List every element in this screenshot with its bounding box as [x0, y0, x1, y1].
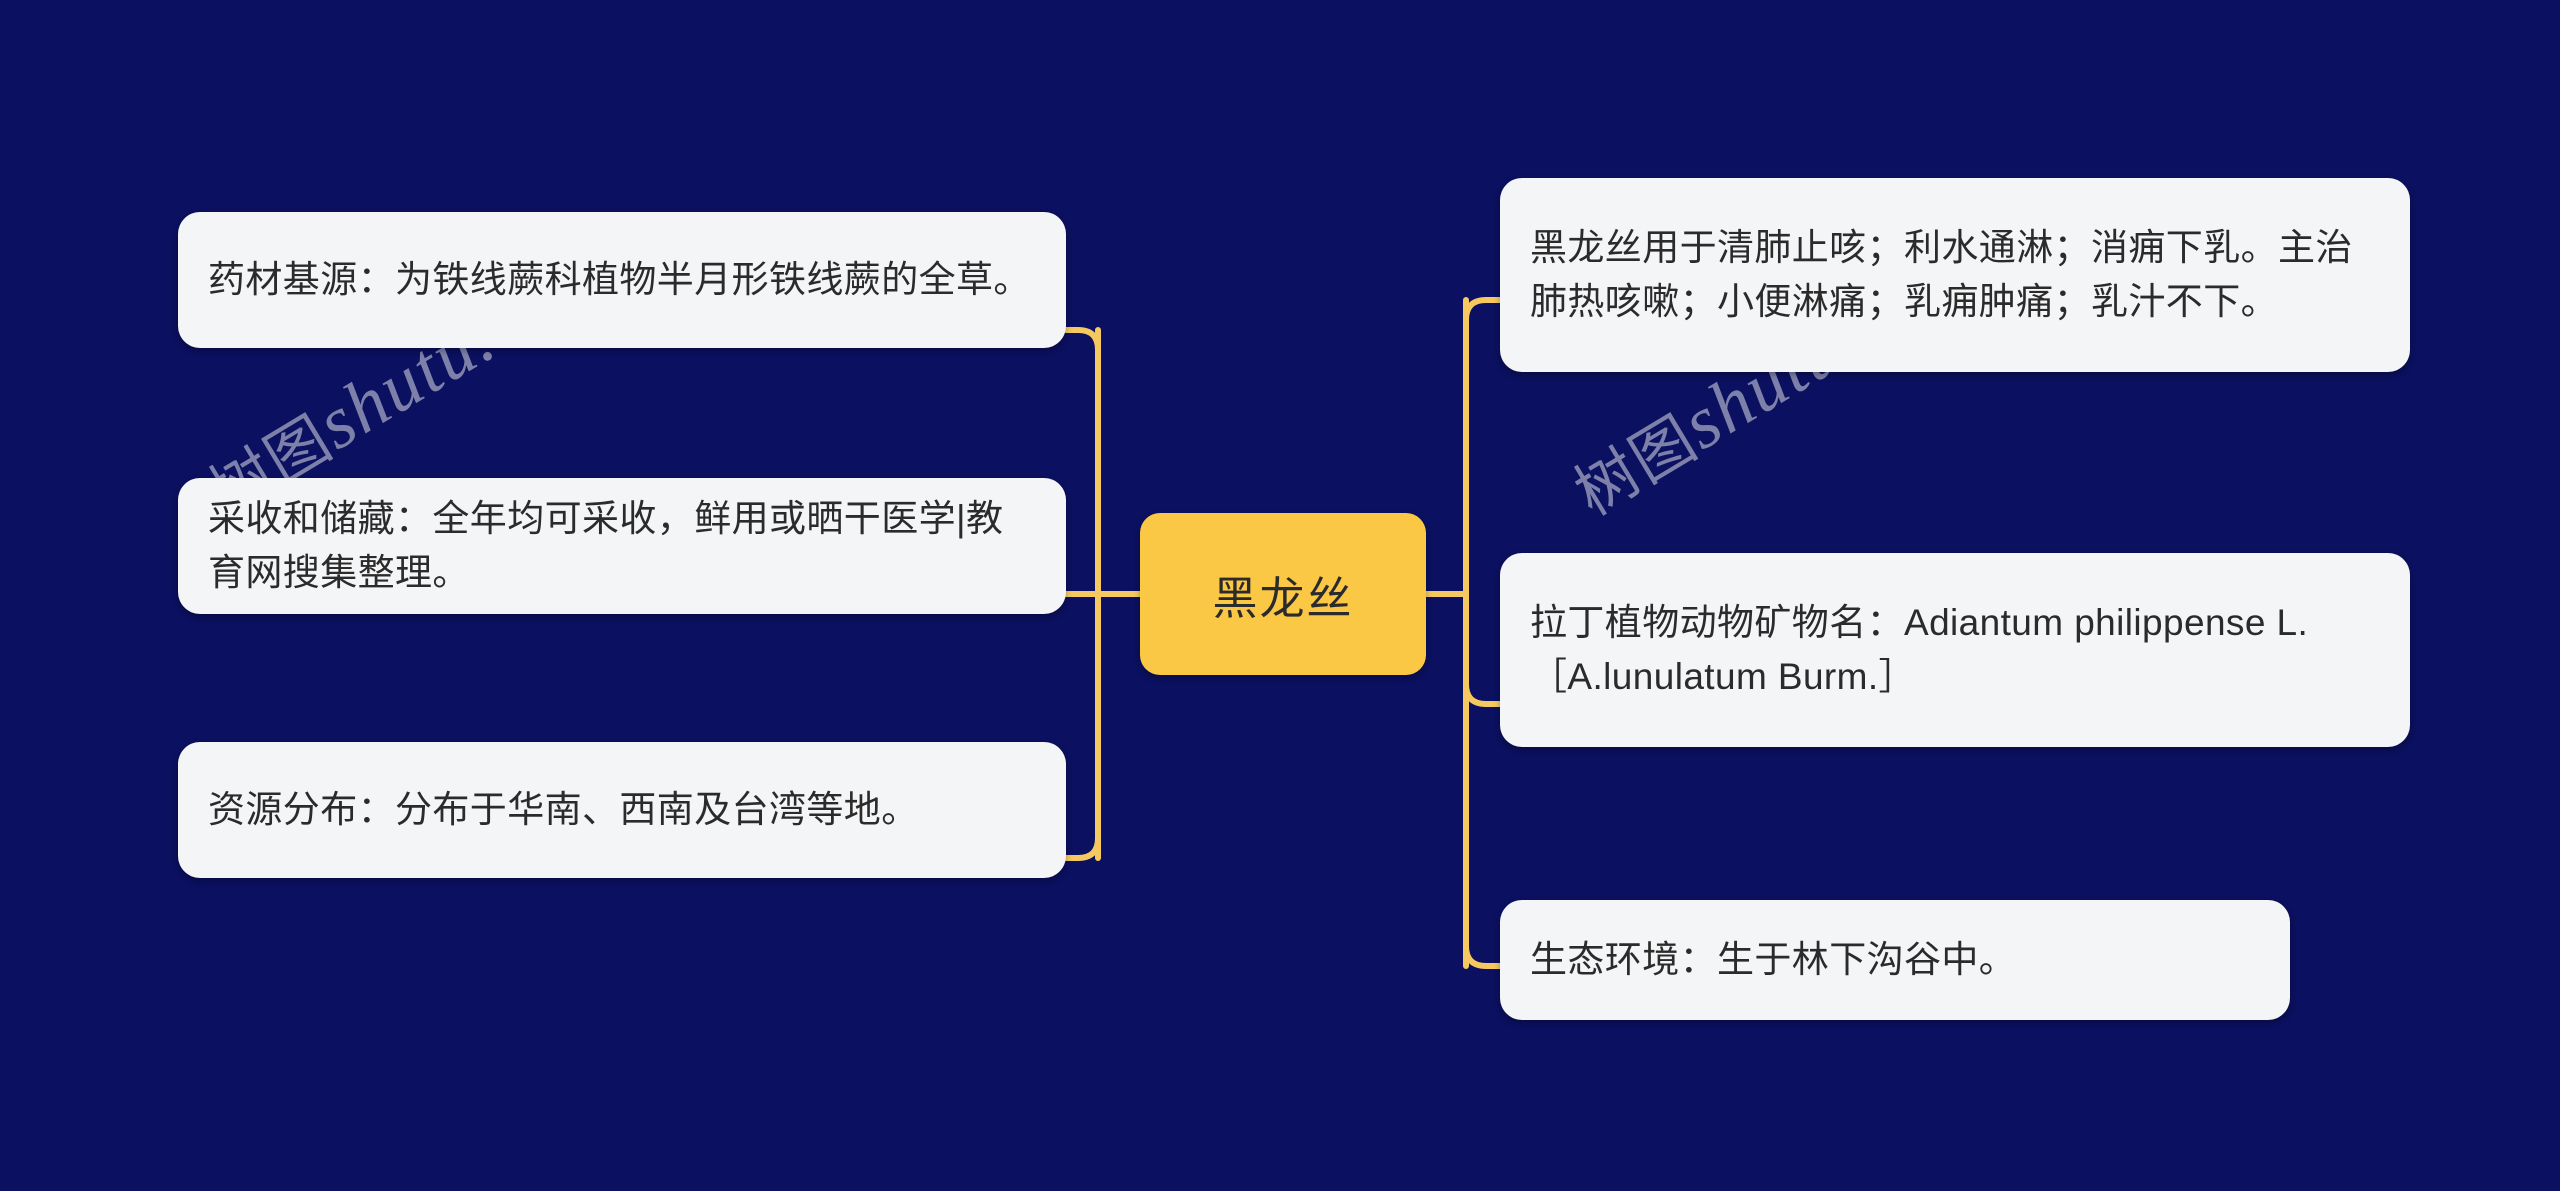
node-label: 生态环境：生于林下沟谷中。 [1530, 933, 2016, 987]
mindmap-node-left-1[interactable]: 药材基源：为铁线蕨科植物半月形铁线蕨的全草。 [178, 212, 1066, 348]
mindmap-node-right-2[interactable]: 拉丁植物动物矿物名：Adiantum philippense L.［A.lunu… [1500, 553, 2410, 747]
connector-right-2 [1466, 684, 1500, 704]
mindmap-node-right-1[interactable]: 黑龙丝用于清肺止咳；利水通淋；消痈下乳。主治肺热咳嗽；小便淋痛；乳痈肿痛；乳汁不… [1500, 178, 2410, 372]
node-label: 资源分布：分布于华南、西南及台湾等地。 [208, 783, 919, 837]
watermark-cjk: 树图 [1562, 401, 1709, 530]
connector-right-1 [1466, 300, 1500, 320]
connector-left-1 [1066, 330, 1098, 350]
node-label: 采收和储藏：全年均可采收，鲜用或晒干医学|教育网搜集整理。 [208, 492, 1036, 599]
connector-left-3 [1066, 838, 1098, 858]
mindmap-root-node[interactable]: 黑龙丝 [1140, 513, 1426, 675]
mindmap-node-left-2[interactable]: 采收和储藏：全年均可采收，鲜用或晒干医学|教育网搜集整理。 [178, 478, 1066, 614]
node-label: 黑龙丝用于清肺止咳；利水通淋；消痈下乳。主治肺热咳嗽；小便淋痛；乳痈肿痛；乳汁不… [1530, 221, 2380, 328]
mindmap-node-right-3[interactable]: 生态环境：生于林下沟谷中。 [1500, 900, 2290, 1020]
connector-right-3 [1466, 946, 1500, 966]
mindmap-canvas: 树图shutu.cn 树图shutu.cn 药材基源：为铁线蕨科植物半月形铁线蕨… [0, 0, 2560, 1191]
node-label: 药材基源：为铁线蕨科植物半月形铁线蕨的全草。 [208, 253, 1031, 307]
root-label: 黑龙丝 [1212, 562, 1353, 627]
mindmap-node-left-3[interactable]: 资源分布：分布于华南、西南及台湾等地。 [178, 742, 1066, 878]
node-label: 拉丁植物动物矿物名：Adiantum philippense L.［A.lunu… [1530, 596, 2380, 703]
